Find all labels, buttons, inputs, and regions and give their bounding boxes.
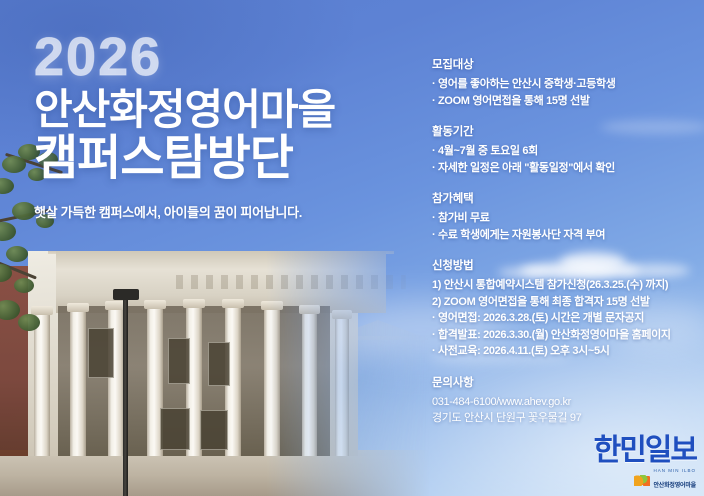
column-row <box>30 306 356 456</box>
facade-window <box>88 328 114 378</box>
poster-canvas: 2026 안산화정영어마을 캠퍼스탐방단 햇살 가득한 캠퍼스에서, 아이들의 … <box>0 0 704 496</box>
section-line: · ZOOM 영어면접을 통해 15명 선발 <box>432 93 700 110</box>
section-contact: 문의사항 031-484-6100/www.ahev.go.kr 경기도 안산시… <box>432 374 700 427</box>
frieze-inscription <box>176 275 406 289</box>
section-benefits: 참가혜택 · 참가비 무료 · 수료 학생에게는 자원봉사단 자격 부여 <box>432 190 700 243</box>
section-heading: 활동기간 <box>432 123 700 139</box>
section-line: · 참가비 무료 <box>432 210 700 227</box>
section-line: · 영어를 좋아하는 안산시 중학생·고등학생 <box>432 76 700 93</box>
column <box>264 309 280 456</box>
column <box>302 313 317 456</box>
section-line: · 사전교육: 2026.4.11.(토) 오후 3시~5시 <box>432 343 700 360</box>
section-line: 2) ZOOM 영어면접을 통해 최종 합격자 15명 선발 <box>432 294 700 311</box>
publisher-logo: 한민일보 HAN MIN ILBO 안산화정영어마을 <box>594 436 696 492</box>
year-label: 2026 <box>34 30 414 84</box>
entrance-door <box>200 410 228 450</box>
column <box>70 311 86 456</box>
page-title-line1: 안산화정영어마을 <box>34 88 414 132</box>
facade-window <box>208 342 230 386</box>
section-line: · 자세한 일정은 아래 "활동일정"에서 확인 <box>432 160 700 177</box>
section-line: 1) 안산시 통합예약시스템 참가신청(26.3.25.(수) 까지) <box>432 277 700 294</box>
section-line: · 수료 학생에게는 자원봉사단 자격 부여 <box>432 227 700 244</box>
info-column: 모집대상 · 영어를 좋아하는 안산시 중학생·고등학생 · ZOOM 영어면접… <box>432 56 700 427</box>
page-title-line2: 캠퍼스탐방단 <box>34 134 414 184</box>
logo-subtitle: 안산화정영어마을 <box>653 483 696 489</box>
section-period: 활동기간 · 4월~7월 중 토요일 6회 · 자세한 일정은 아래 "활동일정… <box>432 123 700 176</box>
section-heading: 문의사항 <box>432 374 700 390</box>
section-heading: 신청방법 <box>432 257 700 273</box>
contact-phone-website[interactable]: 031-484-6100/www.ahev.go.kr <box>432 394 700 411</box>
lamp-post <box>123 296 128 496</box>
contact-address: 경기도 안산시 단원구 꽃우물길 97 <box>432 410 700 427</box>
entrance-door <box>160 408 190 450</box>
lamp-head-icon <box>113 289 139 300</box>
section-line: · 합격발표: 2026.3.30.(월) 안산화정영어마을 홈페이지 <box>432 327 700 344</box>
campus-building-photo <box>0 251 430 496</box>
logo-kicker: HAN MIN ILBO <box>653 468 696 473</box>
column <box>335 318 349 456</box>
section-how-to-apply: 신청방법 1) 안산시 통합예약시스템 참가신청(26.3.25.(수) 까지)… <box>432 257 700 360</box>
section-heading: 참가혜택 <box>432 190 700 206</box>
entrance-steps <box>40 446 370 472</box>
section-line: · 4월~7월 중 토요일 6회 <box>432 143 700 160</box>
leaf-cluster-icon <box>634 475 650 486</box>
section-heading: 모집대상 <box>432 56 700 72</box>
section-recruitment: 모집대상 · 영어를 좋아하는 안산시 중학생·고등학생 · ZOOM 영어면접… <box>432 56 700 109</box>
logo-sub-row: HAN MIN ILBO 안산화정영어마을 <box>594 468 696 492</box>
tagline: 햇살 가득한 캠퍼스에서, 아이들의 꿈이 피어납니다. <box>34 202 414 221</box>
section-line: · 영어면접: 2026.3.28.(토) 시간은 개별 문자공지 <box>432 310 700 327</box>
column <box>34 314 50 456</box>
logo-wordmark: 한민일보 <box>594 436 696 466</box>
facade-window <box>168 338 190 384</box>
headline-block: 2026 안산화정영어마을 캠퍼스탐방단 햇살 가득한 캠퍼스에서, 아이들의 … <box>34 30 414 221</box>
